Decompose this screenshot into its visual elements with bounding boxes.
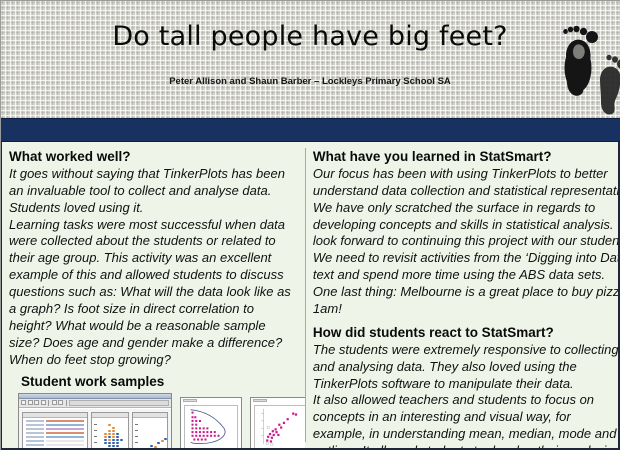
text-line: We have only scratched the surface in re… bbox=[313, 200, 611, 217]
text-line: and analysing data. They also loved usin… bbox=[313, 359, 611, 376]
section-body-what-worked-well-p2: Learning tasks were most successful when… bbox=[9, 217, 298, 369]
spacer bbox=[313, 318, 611, 325]
plot-canvas bbox=[184, 405, 238, 448]
stacked-dot-plot bbox=[91, 412, 129, 448]
text-line: look forward to continuing this project … bbox=[313, 233, 611, 250]
toolbar-separator bbox=[48, 400, 49, 406]
left-column: What worked well? It goes without saying… bbox=[2, 142, 305, 448]
toolbar-button-icon bbox=[52, 400, 57, 405]
poster-authors: Peter Allison and Shaun Barber – Lockley… bbox=[169, 76, 451, 87]
text-line: understand data collection and statistic… bbox=[313, 183, 611, 200]
right-column: What have you learned in StatSmart? Our … bbox=[306, 142, 618, 448]
section-body-how-did-students-react: The students were extremely responsive t… bbox=[313, 342, 611, 448]
text-line: example, in understanding mean, median, … bbox=[313, 426, 611, 443]
poster-root: Do tall people have big feet? Peter Alli… bbox=[0, 0, 620, 450]
toolbar-button-icon bbox=[58, 400, 63, 405]
thumbnail-magenta-distribution-plot[interactable] bbox=[180, 397, 242, 448]
plot-canvas bbox=[254, 405, 305, 448]
text-line: We need to revisit activities from the ‘… bbox=[313, 250, 611, 267]
section-body-what-have-you-learned: Our focus has been with using TinkerPlot… bbox=[313, 166, 611, 318]
app-toolbar bbox=[19, 399, 171, 408]
text-line: concepts in an interesting and visual wa… bbox=[313, 409, 611, 426]
scatter-plot-height-vs-foot bbox=[132, 412, 168, 448]
text-line: 1am! bbox=[313, 301, 611, 318]
toolbar-button-icon bbox=[34, 400, 39, 405]
mini-window-titlebar bbox=[183, 399, 197, 402]
student-work-samples-gallery bbox=[9, 393, 298, 448]
toolbar-palette bbox=[69, 400, 169, 406]
toolbar-separator bbox=[66, 400, 67, 406]
mini-window-titlebar bbox=[253, 399, 267, 402]
toolbar-button-icon bbox=[28, 400, 33, 405]
text-line: One last thing: Melbourne is a great pla… bbox=[313, 284, 611, 301]
text-line: TinkerPlots software to manipulate their… bbox=[313, 376, 611, 393]
toolbar-button-icon bbox=[21, 400, 26, 405]
text-line: It also allowed teachers and students to… bbox=[313, 392, 611, 409]
text-line: Our focus has been with using TinkerPlot… bbox=[313, 166, 611, 183]
thumbnail-tinkerplots-app-window[interactable] bbox=[18, 393, 172, 448]
navy-divider-bar bbox=[0, 118, 620, 142]
section-heading-how-did-students-react: How did students react to StatSmart? bbox=[313, 325, 611, 342]
data-card-window bbox=[22, 412, 88, 448]
text-line: outliers. It allowed students to develop… bbox=[313, 443, 611, 448]
poster-header: Do tall people have big feet? Peter Alli… bbox=[0, 0, 620, 118]
section-body-what-worked-well-p1: It goes without saying that TinkerPlots … bbox=[9, 166, 298, 217]
poster-content: What worked well? It goes without saying… bbox=[0, 142, 620, 450]
section-heading-what-have-you-learned: What have you learned in StatSmart? bbox=[313, 149, 611, 166]
thumbnail-magenta-scatter-plot[interactable] bbox=[250, 397, 305, 448]
section-heading-student-work-samples: Student work samples bbox=[9, 374, 298, 389]
page-title: Do tall people have big feet? bbox=[112, 22, 507, 52]
app-canvas bbox=[19, 409, 171, 448]
section-heading-what-worked-well: What worked well? bbox=[9, 149, 298, 166]
text-line: text and spend more time using the ABS d… bbox=[313, 267, 611, 284]
text-line: The students were extremely responsive t… bbox=[313, 342, 611, 359]
toolbar-button-icon bbox=[41, 400, 46, 405]
text-line: developing concepts and skills in statis… bbox=[313, 217, 611, 234]
